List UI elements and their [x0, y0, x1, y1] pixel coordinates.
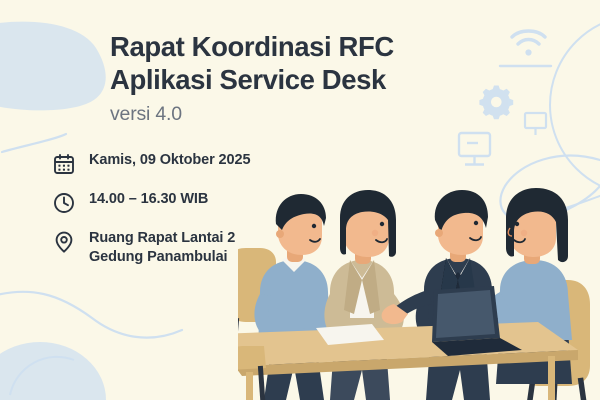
clock-icon [52, 191, 76, 215]
info-label-location: Ruang Rapat Lantai 2 Gedung Panambulai [89, 229, 235, 268]
location-pin-icon [52, 230, 76, 254]
small-monitor-icon [525, 113, 546, 135]
subtitle: versi 4.0 [110, 102, 382, 127]
info-label-time: 14.00 – 16.30 WIB [89, 190, 208, 209]
wifi-icon [512, 31, 545, 44]
info-row-date: Kamis, 09 Oktober 2025 [52, 151, 382, 176]
info-row-time: 14.00 – 16.30 WIB [52, 190, 382, 215]
info-label-date: Kamis, 09 Oktober 2025 [89, 151, 250, 170]
wifi-icon-dot [525, 49, 531, 55]
info-list: Kamis, 09 Oktober 2025 14.00 – 16.30 WIB [52, 151, 382, 268]
gear-icon [479, 86, 513, 120]
meeting-table [238, 322, 578, 400]
calendar-icon [52, 152, 76, 176]
blob-bottom-left [0, 342, 106, 400]
info-row-location: Ruang Rapat Lantai 2 Gedung Panambulai [52, 229, 382, 268]
poster-text-block: Rapat Koordinasi RFC Aplikasi Service De… [52, 30, 382, 281]
title-group: Rapat Koordinasi RFC Aplikasi Service De… [110, 30, 382, 127]
title-line-1: Rapat Koordinasi RFC [110, 30, 382, 63]
event-poster: Rapat Koordinasi RFC Aplikasi Service De… [0, 0, 600, 400]
title-line-2: Aplikasi Service Desk [110, 63, 382, 96]
wave-bottom-left [0, 292, 182, 338]
